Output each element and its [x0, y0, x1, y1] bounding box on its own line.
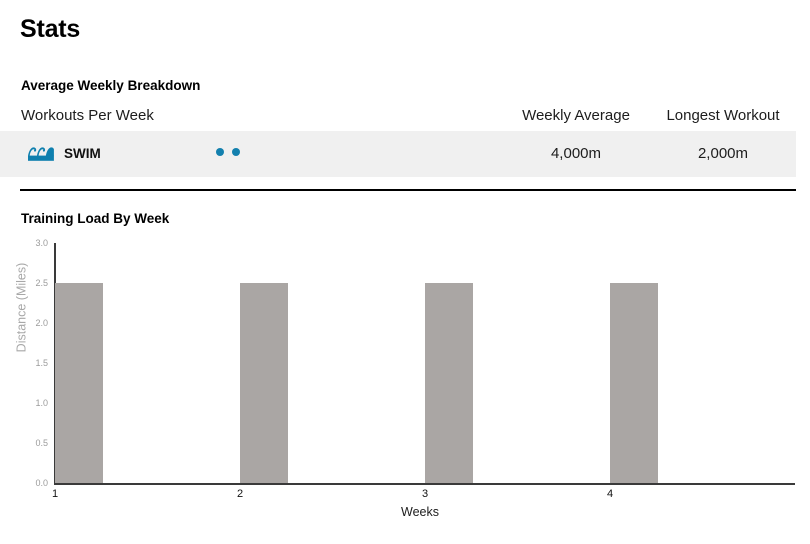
weekly-average-value: 4,000m [510, 145, 642, 163]
column-header-workouts-per-week: Workouts Per Week [21, 107, 154, 125]
x-axis-tick-label: 4 [595, 488, 625, 501]
y-axis-tick-label: 1.0 [22, 398, 48, 408]
chart-bar [55, 283, 103, 483]
longest-workout-value: 2,000m [652, 145, 794, 163]
y-axis-tick-label: 2.5 [22, 278, 48, 288]
y-axis-tick-label: 3.0 [22, 238, 48, 248]
x-axis-tick-label: 2 [225, 488, 255, 501]
column-header-longest-workout: Longest Workout [652, 107, 794, 125]
x-axis-line [54, 483, 795, 485]
stats-page: Stats Average Weekly Breakdown Workouts … [0, 0, 810, 544]
training-load-bar-chart: Distance (Miles) 0.00.51.01.52.02.53.0 1… [0, 232, 810, 532]
section-divider [20, 189, 796, 191]
x-axis-label: Weeks [0, 505, 810, 520]
workout-dot [232, 148, 240, 156]
table-header-row: Workouts Per Week Weekly Average Longest… [0, 105, 810, 129]
section-heading-training-load-by-week: Training Load By Week [21, 211, 169, 227]
workout-dot [216, 148, 224, 156]
plot-area [55, 243, 795, 483]
swim-wave-icon [28, 145, 54, 164]
y-axis-tick-label: 2.0 [22, 318, 48, 328]
y-axis-tick-label: 1.5 [22, 358, 48, 368]
page-title: Stats [20, 14, 80, 44]
section-heading-average-weekly-breakdown: Average Weekly Breakdown [21, 78, 200, 94]
chart-bar [425, 283, 473, 483]
y-axis-tick-label: 0.5 [22, 438, 48, 448]
y-axis-tick-label: 0.0 [22, 478, 48, 488]
sport-label: SWIM [64, 145, 101, 163]
column-header-weekly-average: Weekly Average [510, 107, 642, 125]
table-row[interactable]: SWIM 4,000m 2,000m [0, 131, 796, 177]
chart-bar [610, 283, 658, 483]
x-axis-label-text: Weeks [401, 505, 439, 520]
chart-bar [240, 283, 288, 483]
x-axis-tick-label: 1 [40, 488, 70, 501]
workout-count-dots [216, 148, 240, 156]
x-axis-tick-label: 3 [410, 488, 440, 501]
weekly-breakdown-table: Workouts Per Week Weekly Average Longest… [0, 105, 810, 177]
